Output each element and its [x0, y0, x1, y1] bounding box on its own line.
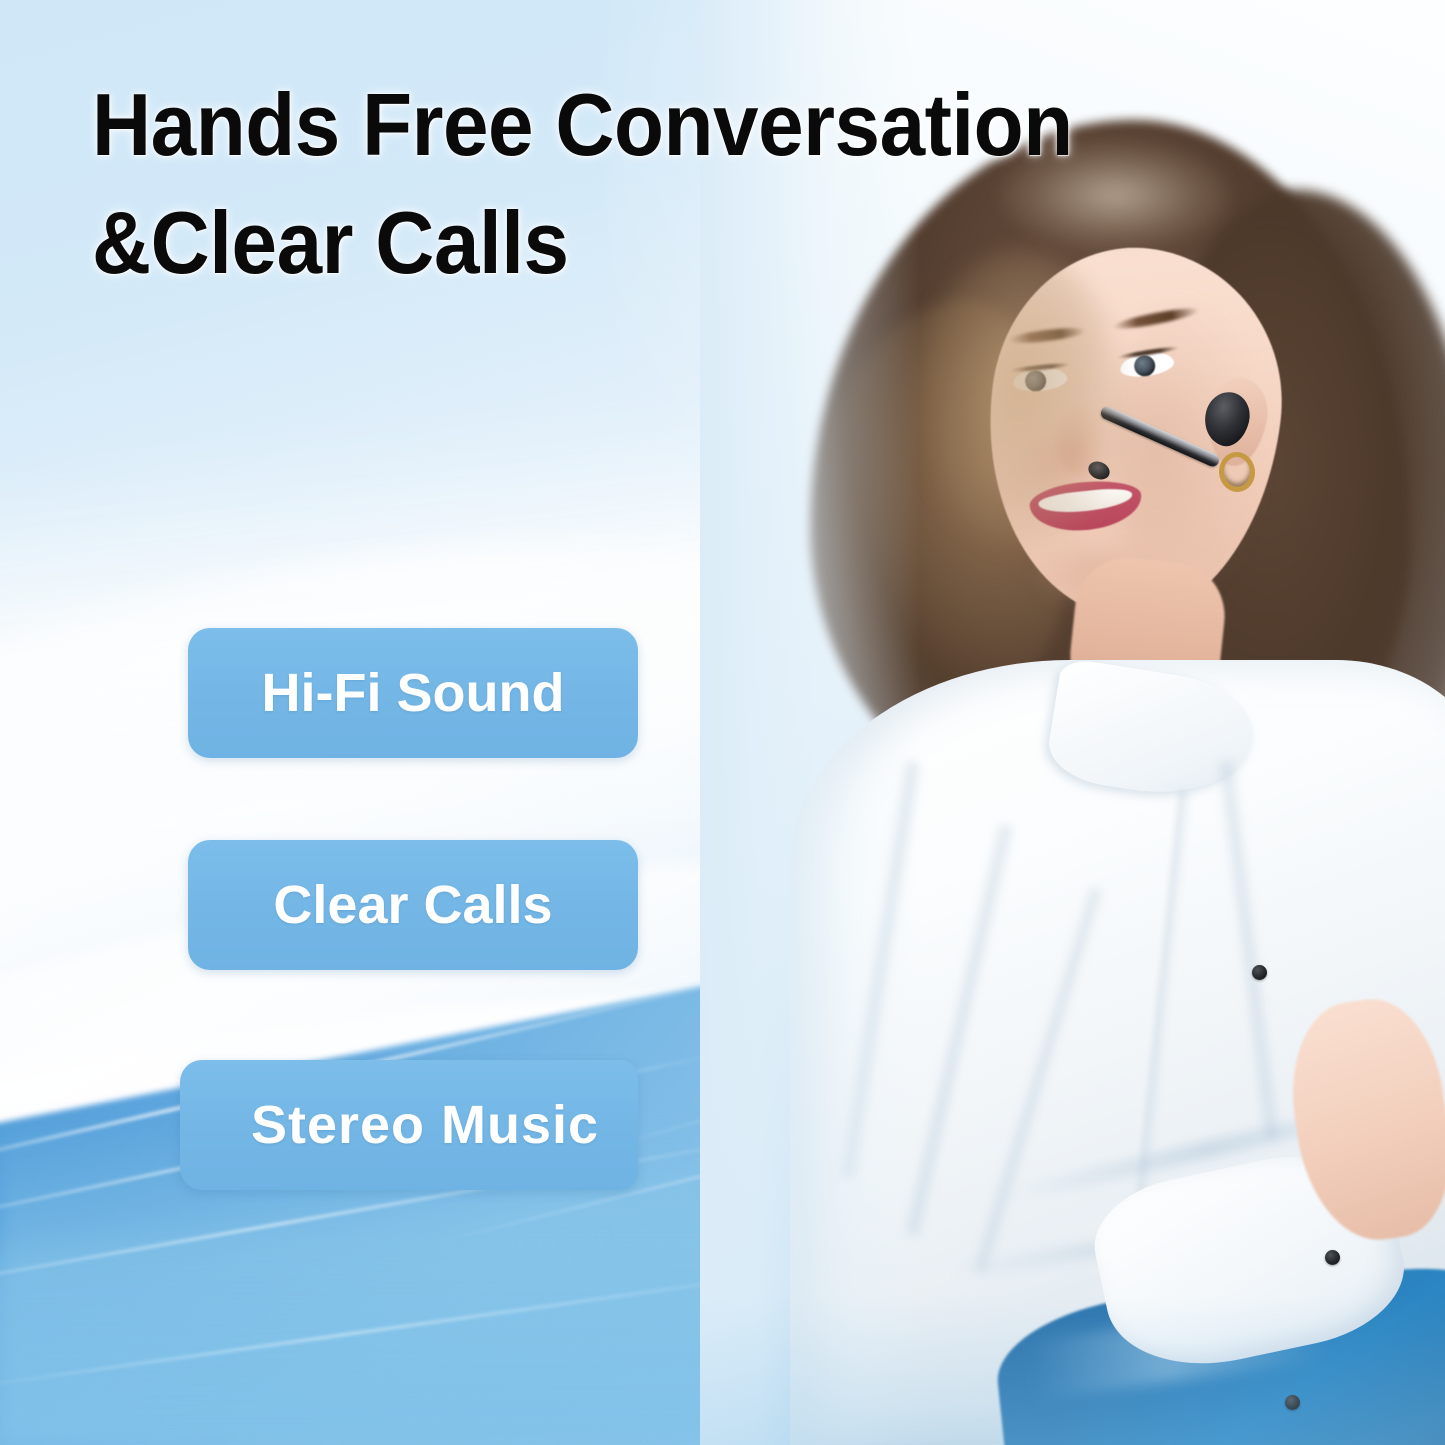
shirt-button — [1252, 965, 1267, 980]
feature-pill-label: Stereo Music — [251, 1094, 599, 1156]
shirt-button — [1325, 1250, 1340, 1265]
headline-line-1: Hands Free Conversation — [92, 66, 1227, 184]
feature-pill-label: Hi-Fi Sound — [262, 662, 565, 724]
feature-pill-clear-calls: Clear Calls — [188, 840, 638, 970]
page-title: Hands Free Conversation &Clear Calls — [92, 66, 1227, 302]
iris-right — [1133, 354, 1157, 378]
product-feature-banner: Hands Free Conversation &Clear Calls Hi-… — [0, 0, 1445, 1445]
feature-pill-label: Clear Calls — [273, 874, 552, 936]
feature-pill-stereo-music: Stereo Music — [180, 1060, 638, 1190]
feature-pill-hi-fi-sound: Hi-Fi Sound — [188, 628, 638, 758]
photo-bottom-feather — [700, 1295, 1445, 1445]
headline-line-2: &Clear Calls — [92, 184, 1227, 302]
